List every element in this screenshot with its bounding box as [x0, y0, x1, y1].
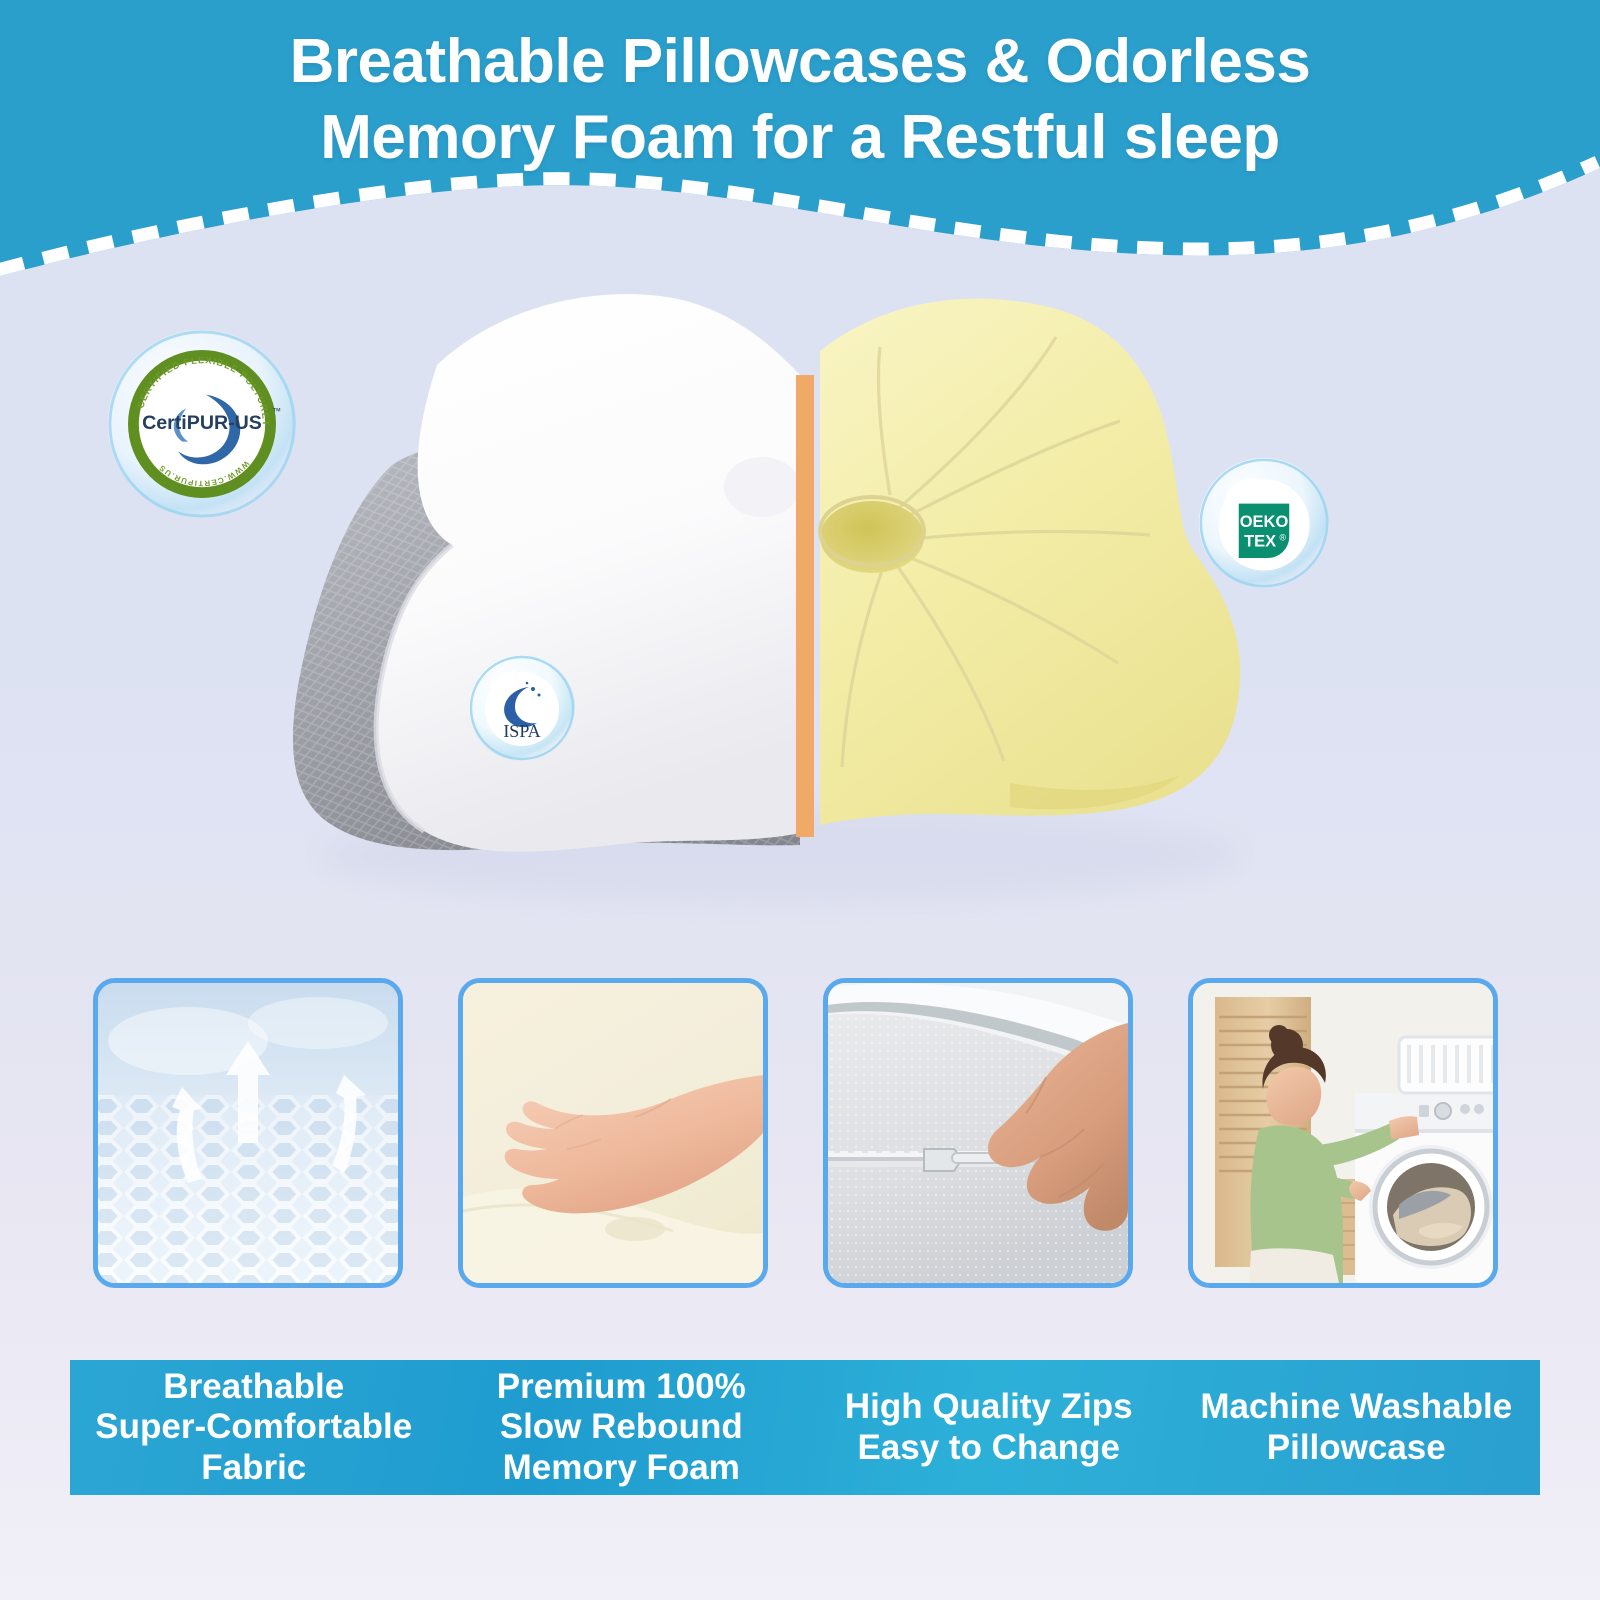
feature-panels	[0, 978, 1600, 1296]
panel-breathable-mesh-fabric[interactable]	[93, 978, 403, 1288]
svg-text:TEX: TEX	[1244, 532, 1276, 550]
panel-machine-washable[interactable]	[1188, 978, 1498, 1288]
feature-caption-bar: Breathable Super-Comfortable Fabric Prem…	[70, 1360, 1540, 1495]
oeko-tex-icon: OEKO TEX ®	[1196, 455, 1332, 591]
ispa-badge: ISPA	[467, 653, 577, 763]
ispa-icon: ISPA	[467, 653, 577, 763]
caption-machine-washable: Machine Washable Pillowcase	[1173, 1360, 1541, 1495]
svg-text:™: ™	[273, 406, 282, 416]
foam-center-hole	[820, 501, 924, 573]
orange-split-divider	[796, 375, 814, 837]
svg-text:CertiPUR-US: CertiPUR-US	[142, 412, 262, 434]
pillowcase-button-bump	[724, 457, 800, 517]
machine-washable-image	[1193, 983, 1493, 1283]
svg-text:ISPA: ISPA	[503, 721, 540, 741]
breathable-mesh-image	[98, 983, 398, 1283]
panel-high-quality-zipper[interactable]	[823, 978, 1133, 1288]
panel-memory-foam-hand-press[interactable]	[458, 978, 768, 1288]
page-title-line2: Memory Foam for a Restful sleep	[0, 100, 1600, 176]
infographic-page: Breathable Pillowcases & Odorless Memory…	[0, 0, 1600, 1600]
page-title: Breathable Pillowcases & Odorless Memory…	[0, 24, 1600, 175]
pillowcase-white-half	[376, 294, 800, 852]
caption-memory-foam: Premium 100% Slow Rebound Memory Foam	[438, 1360, 806, 1495]
svg-text:OEKO: OEKO	[1240, 513, 1289, 531]
certipur-us-badge: CERTIFIED FLEXIBLE POLYURETHANE FOAM WWW…	[104, 326, 300, 522]
zipper-image	[828, 983, 1128, 1283]
page-title-line1: Breathable Pillowcases & Odorless	[290, 27, 1311, 96]
certipur-us-icon: CERTIFIED FLEXIBLE POLYURETHANE FOAM WWW…	[104, 326, 300, 522]
header-banner: Breathable Pillowcases & Odorless Memory…	[0, 0, 1600, 300]
caption-breathable-fabric: Breathable Super-Comfortable Fabric	[70, 1360, 438, 1495]
caption-zips: High Quality Zips Easy to Change	[805, 1360, 1173, 1495]
memory-foam-image	[463, 983, 763, 1283]
oeko-tex-badge: OEKO TEX ®	[1196, 455, 1332, 591]
svg-text:®: ®	[1280, 532, 1287, 542]
